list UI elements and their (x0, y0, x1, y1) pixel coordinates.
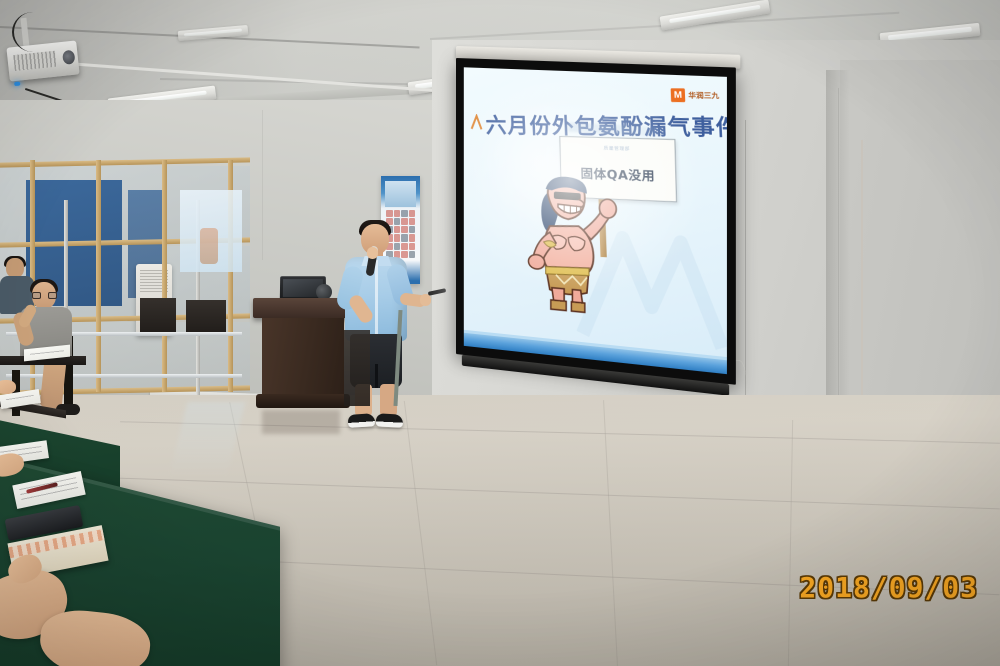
equipment-box-1 (140, 298, 176, 332)
equipment-box-2 (186, 300, 226, 332)
floor-podium-reflection (262, 410, 340, 434)
screen-frame: M 华润三九 六月份外包氨酚漏气事件 质量管理部 固体QA没用 (456, 58, 736, 385)
second-desk-paper-lines (6, 395, 34, 403)
projector-vent (13, 51, 56, 71)
presentation-slide: M 华润三九 六月份外包氨酚漏气事件 质量管理部 固体QA没用 (464, 67, 727, 374)
presenter-left-shoe (348, 413, 376, 428)
floor-equipment-case (344, 330, 370, 406)
eyeglasses-icon (32, 292, 57, 300)
presenter-right-shoe (376, 413, 404, 427)
slide-corner-logo-icon (471, 114, 483, 131)
presenter-right-hand (420, 294, 431, 306)
banner-image (385, 181, 416, 207)
projection-screen: M 华润三九 六月份外包氨酚漏气事件 质量管理部 固体QA没用 (456, 58, 736, 398)
audience-paper-lines (30, 350, 64, 356)
partition-post-3 (162, 160, 167, 392)
audience-leg (40, 359, 67, 409)
placard-subtitle: 质量管理部 (560, 144, 674, 154)
cartoon-caveman-figure (519, 171, 622, 318)
projector-lens (62, 50, 75, 65)
photo-scene: M 华润三九 六月份外包氨酚漏气事件 质量管理部 固体QA没用 (0, 0, 1000, 666)
camera-date-stamp: 2018/09/03 (799, 571, 978, 604)
brand-logo-icon: M (671, 88, 686, 102)
brand-name: 华润三九 (688, 90, 719, 101)
presenter-shorts-split (375, 364, 378, 388)
presenter-shirt-placket (375, 260, 378, 338)
slide-brand-lockup: M 华润三九 (671, 88, 720, 102)
far-viewer-head (6, 258, 24, 278)
slide-reflection-figure (200, 228, 218, 264)
presenter-mic-hand (367, 247, 378, 259)
projector-cable (12, 12, 54, 52)
brand-logo-glyph: M (674, 90, 683, 100)
second-row-hand (0, 380, 16, 394)
wall-seam-3 (262, 110, 263, 260)
seated-audience-member (8, 282, 104, 442)
